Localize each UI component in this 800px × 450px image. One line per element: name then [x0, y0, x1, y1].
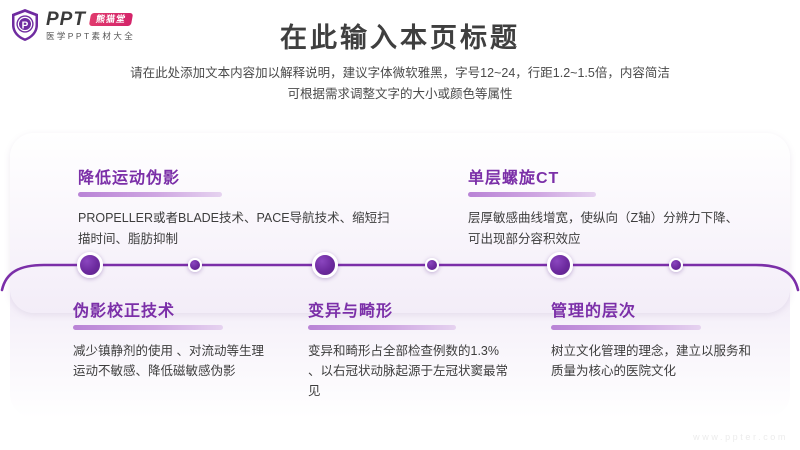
heading-underline: [73, 325, 223, 330]
page-subtitle: 请在此处添加文本内容加以解释说明，建议字体微软雅黑，字号12~24，行距1.2~…: [0, 63, 800, 105]
block-heading: 变异与畸形: [308, 297, 508, 321]
block-bottom-3: 管理的层次 树立文化管理的理念，建立以服务和质量为核心的医院文化: [551, 297, 751, 381]
heading-underline: [308, 325, 456, 330]
block-top-1: 降低运动伪影 PROPELLER或者BLADE技术、PACE导航技术、缩短扫描时…: [78, 164, 398, 250]
block-body: 变异和畸形占全部检查例数的1.3% 、以右冠状动脉起源于左冠状窦最常见: [308, 341, 508, 401]
footer-watermark: www.ppter.com: [693, 432, 788, 442]
block-heading: 管理的层次: [551, 297, 751, 321]
heading-underline: [468, 192, 596, 197]
timeline-node-3[interactable]: [312, 252, 338, 278]
block-heading: 单层螺旋CT: [468, 164, 750, 188]
page-subtitle-line-1: 请在此处添加文本内容加以解释说明，建议字体微软雅黑，字号12~24，行距1.2~…: [0, 63, 800, 84]
block-body: PROPELLER或者BLADE技术、PACE导航技术、缩短扫描时间、脂肪抑制: [78, 208, 398, 250]
heading-underline: [78, 192, 222, 197]
timeline-node-4[interactable]: [425, 258, 439, 272]
block-body: 减少镇静剂的使用 、对流动等生理运动不敏感、降低磁敏感伪影: [73, 341, 273, 381]
heading-underline: [551, 325, 701, 330]
block-bottom-2: 变异与畸形 变异和畸形占全部检查例数的1.3% 、以右冠状动脉起源于左冠状窦最常…: [308, 297, 508, 401]
block-heading: 伪影校正技术: [73, 297, 273, 321]
timeline-node-6[interactable]: [669, 258, 683, 272]
page-subtitle-line-2: 可根据需求调整文字的大小或颜色等属性: [0, 84, 800, 105]
page-title: 在此输入本页标题: [0, 16, 800, 55]
block-top-2: 单层螺旋CT 层厚敏感曲线增宽，使纵向（Z轴）分辨力下降、可出现部分容积效应: [468, 164, 750, 250]
block-heading: 降低运动伪影: [78, 164, 398, 188]
timeline-node-1[interactable]: [77, 252, 103, 278]
block-body: 树立文化管理的理念，建立以服务和质量为核心的医院文化: [551, 341, 751, 381]
timeline-node-2[interactable]: [188, 258, 202, 272]
block-bottom-1: 伪影校正技术 减少镇静剂的使用 、对流动等生理运动不敏感、降低磁敏感伪影: [73, 297, 273, 381]
timeline-node-5[interactable]: [547, 252, 573, 278]
block-body: 层厚敏感曲线增宽，使纵向（Z轴）分辨力下降、可出现部分容积效应: [468, 208, 750, 250]
